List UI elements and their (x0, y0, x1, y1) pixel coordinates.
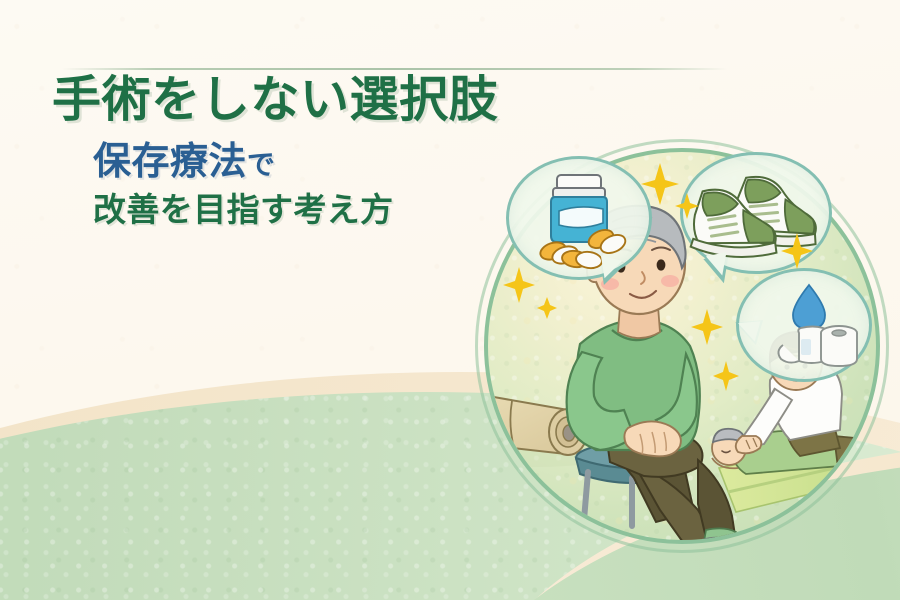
sparkle-icon (674, 192, 700, 220)
headline-line-2-suffix: で (247, 148, 275, 181)
sparkle-icon (690, 308, 724, 346)
headline-line-2-main: 保存療法 (93, 139, 247, 183)
sparkle-icon (780, 232, 814, 270)
sparkle-icon (536, 296, 558, 320)
poster-canvas: 手術をしない選択肢 保存療法で 改善を目指す考え方 (0, 0, 900, 600)
water-drop-icon (793, 285, 825, 329)
sparkle-icon (712, 360, 740, 392)
headline-line-3: 改善を目指す考え方 (93, 190, 470, 230)
headline-line-1: 手術をしない選択肢 (52, 72, 470, 129)
header-divider-line (62, 68, 727, 70)
headline-block: 手術をしない選択肢 保存療法で 改善を目指す考え方 (0, 72, 470, 230)
medicine-bubble (506, 156, 652, 280)
pill-bottle-and-capsules-icon (509, 159, 649, 277)
conservative-therapy-illustration (484, 148, 880, 544)
sparkle-icon (502, 266, 536, 304)
footwear-bubble-tail-fill (706, 252, 731, 278)
headline-line-2: 保存療法で (93, 138, 470, 184)
